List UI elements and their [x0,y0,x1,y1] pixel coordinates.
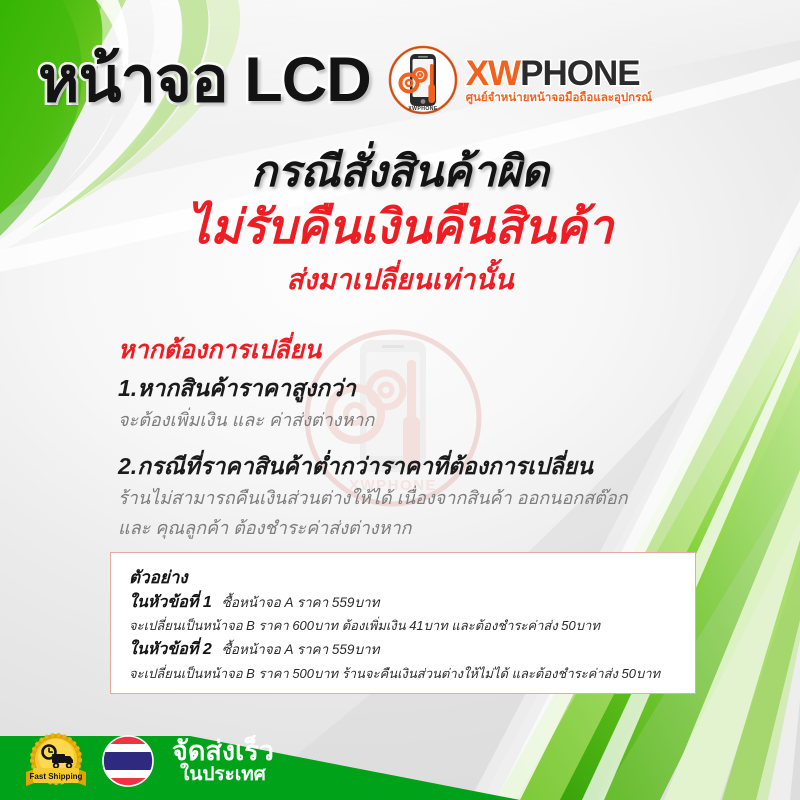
brand-subtitle: ศูนย์จำหน่ายหน้าจอมือถือและอุปกรณ์ [466,93,652,105]
fast-shipping-badge-icon: Fast Shipping [24,732,88,790]
hero-line-3: ส่งมาเปลี่ยนเท่านั้น [0,262,800,298]
xwphone-logo-icon: XWPHONE [387,44,459,116]
footer-content: Fast Shipping [24,722,274,800]
poster-header: หน้าจอ LCD [0,36,800,124]
policy-item-2-note-line-2: และ คุณลูกค้า ต้องชำระค่าส่งต่างหาก [118,515,718,542]
shipping-text: จัดส่งเร็ว ในประเทศ [172,737,274,785]
policy-heading: หากต้องการเปลี่ยน [118,334,718,368]
brand-wordmark: XWPHONE [466,56,652,91]
fast-shipping-badge-label: Fast Shipping [30,772,83,781]
brand-wordmark-phone: PHONE [520,54,639,93]
svg-text:XWPHONE: XWPHONE [408,106,438,112]
example-entry-2-label: ในหัวข้อที่ 2 [129,638,212,663]
example-entry-1-detail: จะเปลี่ยนเป็นหน้าจอ B ราคา 600บาท ต้องเพ… [129,615,695,638]
hero-line-2: ไม่รับคืนเงินคืนสินค้า [0,199,800,255]
policy-item-2-title: 2.กรณีที่ราคาสินค้าต่ำกว่าราคาที่ต้องการ… [118,450,718,482]
example-entry-2-detail: จะเปลี่ยนเป็นหน้าจอ B ราคา 500บาท ร้านจะ… [129,663,695,686]
shipping-line-1: จัดส่งเร็ว [172,737,274,765]
brand-logo: XWPHONE XWPHONE ศูนย์จำหน่ายหน้าจอมือถือ… [387,44,652,116]
example-entry-2-value: ซื้อหน้าจอ A ราคา 559บาท [222,640,380,661]
policy-item-1-note: จะต้องเพิ่มเงิน และ ค่าส่งต่างหาก [118,407,718,434]
example-box: ตัวอย่าง ในหัวข้อที่ 1 ซื้อหน้าจอ A ราคา… [110,552,696,694]
hero-headlines: กรณีสั่งสินค้าผิด ไม่รับคืนเงินคืนสินค้า… [0,148,800,298]
brand-wordmark-xw: XW [466,54,520,93]
example-entry-1-label: ในหัวข้อที่ 1 [129,591,212,616]
hero-line-1: กรณีสั่งสินค้าผิด [0,148,800,197]
policy-item-1-title: 1.หากสินค้าราคาสูงกว่า [118,372,718,404]
example-entry-1-header: ในหัวข้อที่ 1 ซื้อหน้าจอ A ราคา 559บาท [129,591,695,616]
example-entry-1-value: ซื้อหน้าจอ A ราคา 559บาท [222,593,380,614]
example-title: ตัวอย่าง [129,565,695,591]
shipping-footer: Fast Shipping [0,722,800,800]
thailand-flag-icon [102,735,154,787]
poster-canvas: XWPHONE หน้าจอ LCD [0,0,800,800]
page-title: หน้าจอ LCD [38,49,371,112]
policy-item-2-note-line-1: ร้านไม่สามารถคืนเงินส่วนต่างให้ได้ เนื่อ… [118,485,718,512]
shipping-line-2: ในประเทศ [172,765,274,785]
policy-body: หากต้องการเปลี่ยน 1.หากสินค้าราคาสูงกว่า… [118,334,718,542]
example-entry-2-header: ในหัวข้อที่ 2 ซื้อหน้าจอ A ราคา 559บาท [129,638,695,663]
